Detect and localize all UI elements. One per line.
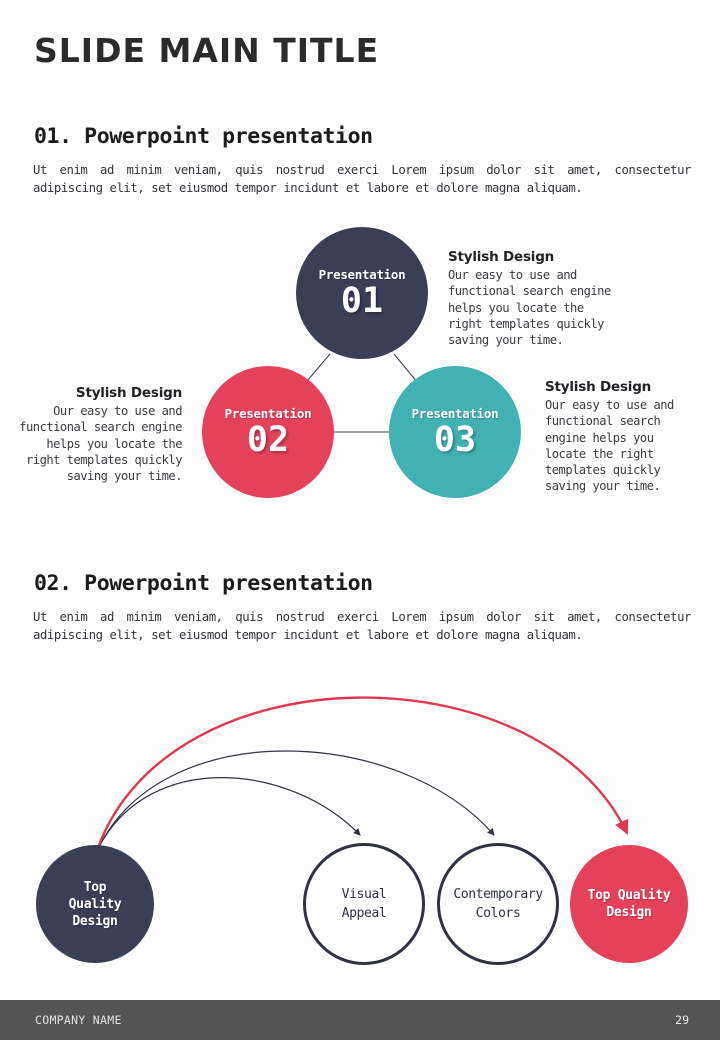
page-title: SLIDE MAIN TITLE	[34, 31, 379, 70]
flow-node-end-label: Top Quality Design	[588, 887, 671, 921]
section-1-body: Ut enim ad minim veniam, quis nostrud ex…	[33, 161, 691, 197]
caption-node-01-text: Our easy to use and functional search en…	[448, 267, 616, 348]
caption-node-02: Stylish Design Our easy to use and funct…	[12, 385, 182, 484]
circle-node-02-label: Presentation	[225, 406, 312, 421]
flow-node-visual-appeal[interactable]: Visual Appeal	[303, 843, 425, 965]
caption-node-03-title: Stylish Design	[545, 379, 681, 395]
section-2-body: Ut enim ad minim veniam, quis nostrud ex…	[33, 608, 691, 644]
circle-node-02-number: 02	[247, 422, 289, 459]
flow-node-start-label: Top Quality Design	[69, 879, 122, 930]
flow-node-contemporary-colors-label: Contemporary Colors	[453, 885, 542, 923]
footer-bar: COMPANY NAME 29	[0, 1000, 720, 1040]
slide-canvas: SLIDE MAIN TITLE 01. Powerpoint presenta…	[0, 0, 720, 1040]
circle-node-01-label: Presentation	[319, 267, 406, 282]
footer-company-name: COMPANY NAME	[35, 1013, 122, 1027]
flow-node-contemporary-colors[interactable]: Contemporary Colors	[437, 843, 559, 965]
flow-node-top-quality-design-end[interactable]: Top Quality Design	[570, 845, 688, 963]
footer-page-number: 29	[675, 1013, 689, 1027]
circle-node-03-number: 03	[434, 422, 476, 459]
section-1-heading: 01. Powerpoint presentation	[34, 124, 373, 149]
caption-node-02-title: Stylish Design	[12, 385, 182, 401]
circle-node-03-label: Presentation	[412, 406, 499, 421]
caption-node-02-text: Our easy to use and functional search en…	[12, 403, 182, 484]
circle-node-01[interactable]: Presentation 01	[296, 227, 428, 359]
flow-node-visual-appeal-label: Visual Appeal	[342, 885, 387, 923]
caption-node-03: Stylish Design Our easy to use and funct…	[545, 379, 681, 495]
circle-node-01-number: 01	[341, 283, 383, 320]
circle-node-02[interactable]: Presentation 02	[202, 366, 334, 498]
caption-node-03-text: Our easy to use and functional search en…	[545, 397, 681, 495]
caption-node-01-title: Stylish Design	[448, 249, 616, 265]
flow-node-top-quality-design-start[interactable]: Top Quality Design	[36, 845, 154, 963]
section-2-heading: 02. Powerpoint presentation	[34, 571, 373, 596]
circle-node-03[interactable]: Presentation 03	[389, 366, 521, 498]
caption-node-01: Stylish Design Our easy to use and funct…	[448, 249, 616, 348]
